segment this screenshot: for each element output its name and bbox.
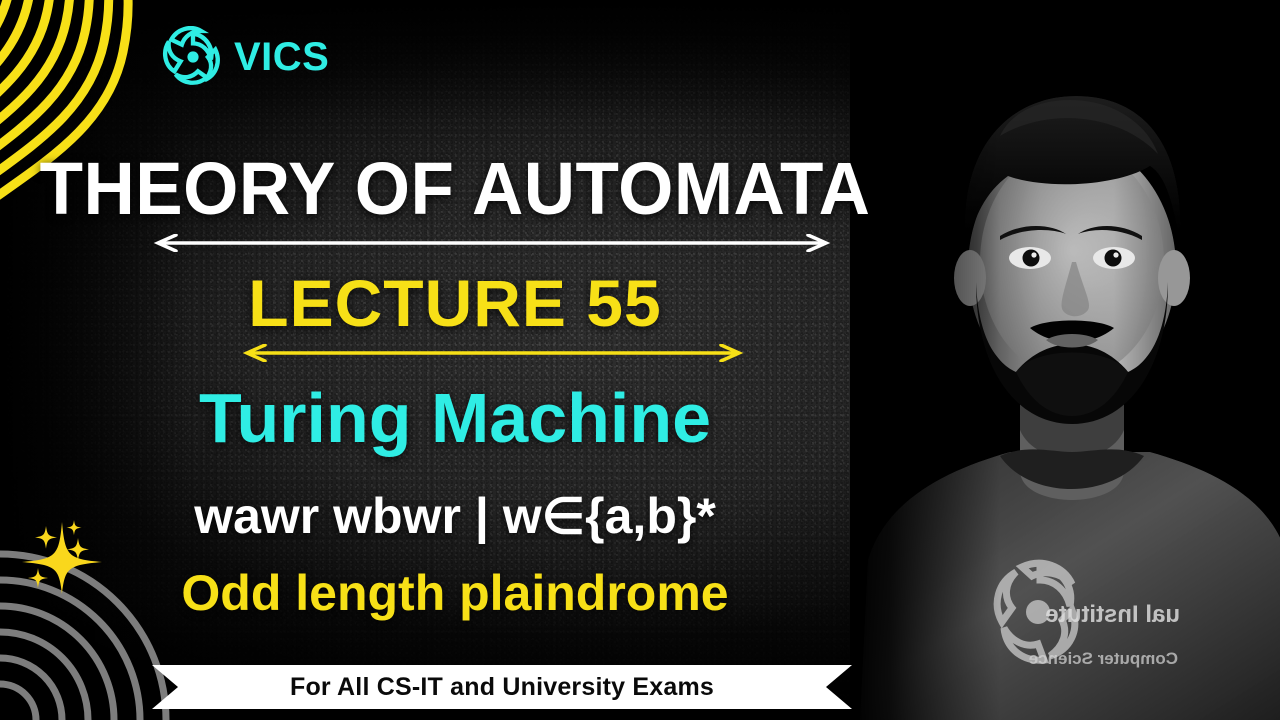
presenter-photo: ual Institute Computer Science bbox=[850, 0, 1280, 720]
yellow-double-arrow-icon bbox=[237, 344, 749, 362]
ribbon-label: For All CS-IT and University Exams bbox=[152, 665, 852, 709]
thumbnail-canvas: ual Institute Computer Science VICS THEO… bbox=[0, 0, 1280, 720]
topic-title: Turing Machine bbox=[0, 378, 910, 458]
note-text: Odd length plaindrome bbox=[0, 564, 910, 622]
course-title: THEORY OF AUTOMATA bbox=[18, 146, 892, 231]
formula-text: wawr wbwr | w∈{a,b}* bbox=[0, 487, 910, 545]
title-block: THEORY OF AUTOMATA LECTURE 55 Turing Mac… bbox=[0, 0, 910, 720]
lecture-number: LECTURE 55 bbox=[0, 265, 910, 341]
white-double-arrow-icon bbox=[148, 234, 836, 252]
presenter-edge-fade bbox=[850, 0, 1280, 720]
exam-ribbon-banner: For All CS-IT and University Exams bbox=[152, 665, 852, 709]
